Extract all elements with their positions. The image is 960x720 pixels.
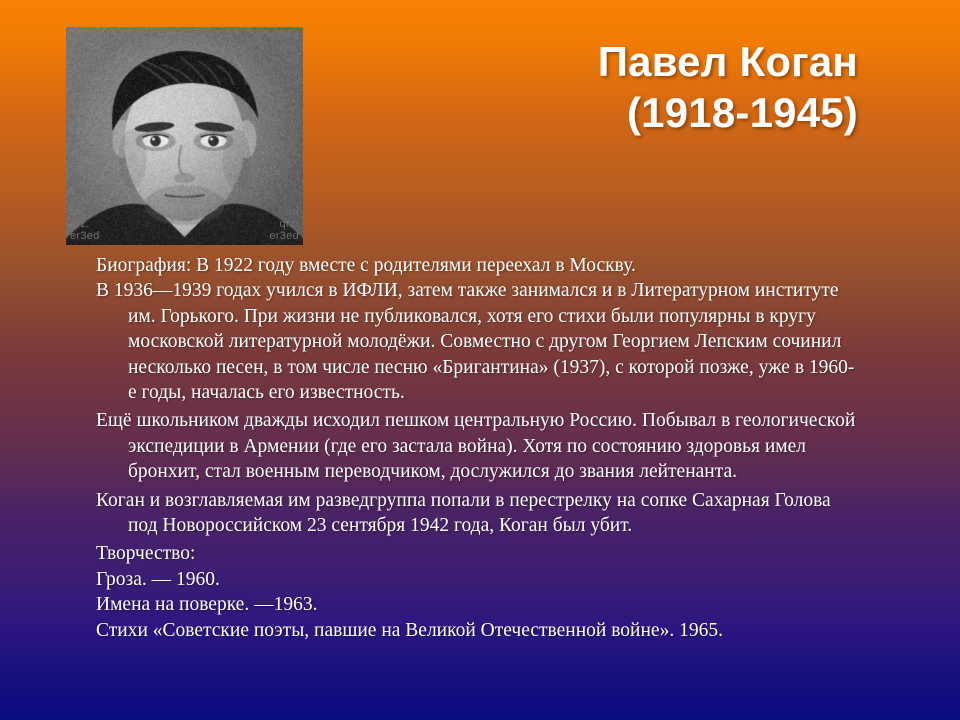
slide-title: Павел Коган (1918-1945) bbox=[330, 36, 858, 138]
biography-paragraph: Биография: В 1922 году вместе с родителя… bbox=[96, 253, 858, 278]
portrait-photo: er3ed qrz. ru er3ed qrz. ru ru qrz. er3e… bbox=[66, 27, 303, 245]
slide-title-line-2: (1918-1945) bbox=[330, 87, 858, 138]
work-item: Гроза. — 1960. bbox=[96, 567, 858, 592]
slide-title-line-1: Павел Коган bbox=[330, 36, 858, 87]
portrait-photo-image bbox=[66, 27, 303, 245]
biography-paragraph: Ещё школьником дважды исходил пешком цен… bbox=[96, 408, 858, 484]
works-heading: Творчество: bbox=[96, 541, 858, 566]
presentation-slide: er3ed qrz. ru er3ed qrz. ru ru qrz. er3e… bbox=[0, 0, 960, 720]
biography-text: Биография: В 1922 году вместе с родителя… bbox=[96, 253, 858, 643]
work-item: Стихи «Советские поэты, павшие на Велико… bbox=[96, 618, 858, 643]
work-item: Имена на поверке. —1963. bbox=[96, 592, 858, 617]
biography-paragraph: В 1936—1939 годах учился в ИФЛИ, затем т… bbox=[96, 278, 858, 405]
biography-paragraph: Коган и возглавляемая им разведгруппа по… bbox=[96, 488, 858, 539]
